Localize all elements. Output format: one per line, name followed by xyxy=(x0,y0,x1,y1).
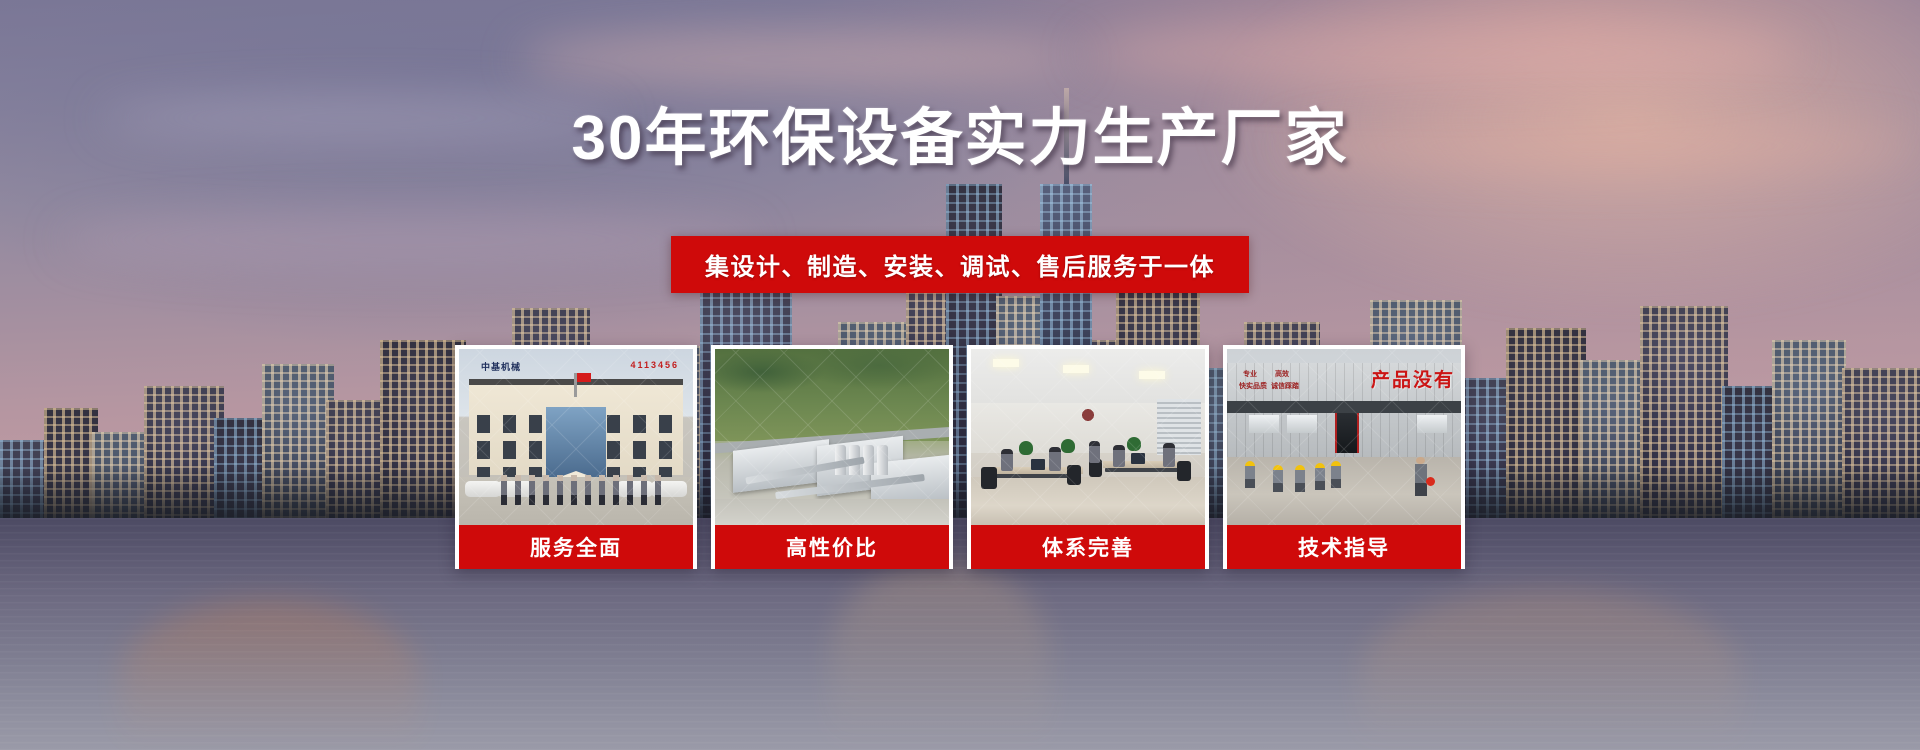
workers-factory-yard-photo: 产品没有 专业 快实品质 高效 诚信踩踏 xyxy=(1227,349,1461,525)
factory-slogan-small: 专业 xyxy=(1243,371,1257,380)
company-building-staff-photo: 中基机械 4113456 xyxy=(459,349,693,525)
banner-subtitle-text: 集设计、制造、安装、调试、售后服务于一体 xyxy=(705,247,1215,282)
green-field xyxy=(715,349,949,441)
feature-card-label: 高性价比 xyxy=(715,525,949,569)
aerial-factory-plant-photo xyxy=(715,349,949,525)
banner-headline: 30年环保设备实力生产厂家 xyxy=(0,106,1920,171)
wall-logo xyxy=(1074,407,1102,427)
factory-slogan-small: 诚信踩踏 xyxy=(1271,383,1299,392)
feature-card-label: 服务全面 xyxy=(459,525,693,569)
feature-card[interactable]: 体系完善 xyxy=(967,345,1209,569)
factory-slogan-small: 快实品质 xyxy=(1239,383,1267,392)
feature-card-label: 体系完善 xyxy=(971,525,1205,569)
office-floor xyxy=(971,477,1205,525)
shed-band xyxy=(1227,401,1461,413)
feature-card[interactable]: 高性价比 xyxy=(711,345,953,569)
banner-subtitle-bar: 集设计、制造、安装、调试、售后服务于一体 xyxy=(671,236,1249,293)
building-brand-text: 中基机械 xyxy=(481,360,521,373)
feature-card-label: 技术指导 xyxy=(1227,525,1461,569)
office-ceiling xyxy=(971,349,1205,403)
plant-yard xyxy=(715,499,949,525)
feature-card[interactable]: 中基机械 4113456 xyxy=(455,345,697,569)
factory-slogan-small: 高效 xyxy=(1275,371,1289,380)
factory-slogan-large: 产品没有 xyxy=(1371,365,1455,392)
building-phone-text: 4113456 xyxy=(630,360,679,370)
factory-door xyxy=(1335,413,1359,453)
banner-content: 30年环保设备实力生产厂家 集设计、制造、安装、调试、售后服务于一体 中基机械 xyxy=(0,0,1920,750)
flag-icon xyxy=(574,373,577,397)
feature-card[interactable]: 产品没有 专业 快实品质 高效 诚信踩踏 xyxy=(1223,345,1465,569)
hero-banner: 30年环保设备实力生产厂家 集设计、制造、安装、调试、售后服务于一体 中基机械 xyxy=(0,0,1920,750)
office-interior-staff-photo xyxy=(971,349,1205,525)
feature-card-list: 中基机械 4113456 xyxy=(455,345,1465,569)
